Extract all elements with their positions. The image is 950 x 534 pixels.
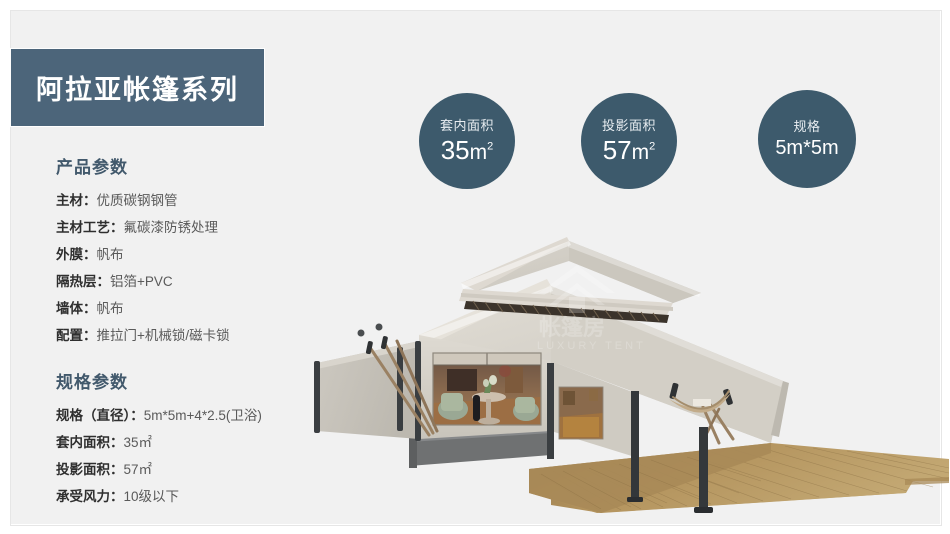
stat-label: 投影面积: [602, 118, 656, 134]
param-key: 规格（直径）：: [56, 408, 144, 423]
stat-unit-exponent: 2: [649, 140, 655, 152]
param-value: 氟碳漆防锈处理: [124, 220, 219, 235]
param-key: 外膜：: [56, 247, 97, 262]
param-key: 投影面积：: [56, 462, 124, 477]
stat-label: 规格: [793, 119, 820, 135]
stat-unit-exponent: 2: [487, 140, 493, 152]
param-key: 主材工艺：: [56, 220, 124, 235]
svg-text:帐篷房: 帐篷房: [539, 315, 605, 340]
param-row: 主材：优质碳钢钢管: [56, 187, 356, 214]
param-value: 帆布: [97, 301, 124, 316]
stat-label: 套内面积: [440, 118, 494, 134]
svg-text:LUXURY TENT: LUXURY TENT: [537, 340, 646, 352]
product-params-heading: 产品参数: [56, 153, 356, 178]
param-value: 优质碳钢钢管: [97, 193, 178, 208]
stat-unit: m: [632, 141, 650, 164]
param-value: 5m*5m+4*2.5(卫浴): [144, 408, 262, 423]
tent-illustration-svg: 帐篷房 LUXURY TENT: [301, 231, 950, 531]
slide-canvas: 阿拉亚帐篷系列 产品参数 主材：优质碳钢钢管 主材工艺：氟碳漆防锈处理 外膜：帆…: [0, 0, 950, 534]
param-value: 10级以下: [124, 489, 180, 504]
param-key: 套内面积：: [56, 435, 124, 450]
series-title-text: 阿拉亚帐篷系列: [36, 68, 239, 107]
stat-circle-indoor-area: 套内面积 35m2: [419, 93, 515, 189]
param-value: 57㎡: [124, 462, 153, 477]
stat-value: 57m2: [603, 136, 656, 165]
stat-number: 57: [603, 135, 632, 165]
param-key: 承受风力：: [56, 489, 124, 504]
param-key: 主材：: [56, 193, 97, 208]
frame-left: [1, 1, 10, 534]
frame-top: [1, 1, 950, 10]
stat-value: 35m2: [441, 136, 494, 165]
param-value: 35㎡: [124, 435, 153, 450]
stat-value: 5m*5m: [775, 137, 838, 159]
tent-rendering: 帐篷房 LUXURY TENT: [301, 231, 950, 531]
series-title-banner: 阿拉亚帐篷系列: [11, 49, 264, 126]
stat-circle-projected-area: 投影面积 57m2: [581, 93, 677, 189]
stat-unit: m: [470, 141, 488, 164]
param-value: 帆布: [97, 247, 124, 262]
param-value: 推拉门+机械锁/磁卡锁: [97, 328, 230, 343]
stat-number: 35: [441, 135, 470, 165]
param-value: 铝箔+PVC: [110, 274, 173, 289]
stat-circle-dimensions: 规格 5m*5m: [758, 90, 856, 188]
param-key: 隔热层：: [56, 274, 110, 289]
param-key: 墙体：: [56, 301, 97, 316]
param-key: 配置：: [56, 328, 97, 343]
